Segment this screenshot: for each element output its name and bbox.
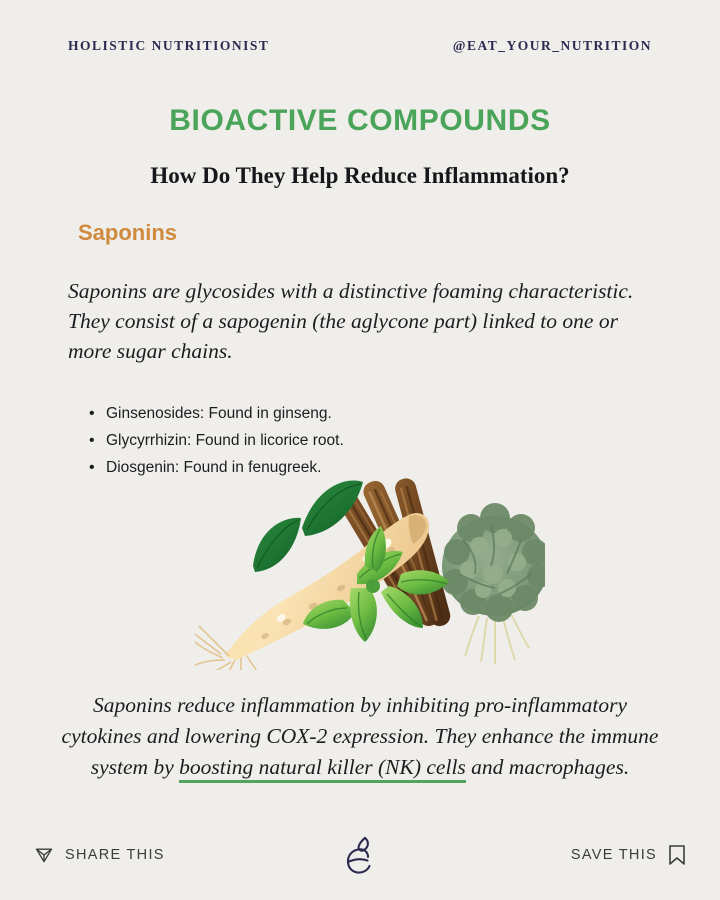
brand-logo-icon[interactable] [343,835,377,875]
share-this-button[interactable]: SHARE THIS [34,845,165,865]
send-icon [34,845,54,865]
conclusion-highlight: boosting natural killer (NK) cells [179,755,466,783]
bookmark-icon [668,844,686,866]
header-handle: @EAT_YOUR_NUTRITION [453,38,652,54]
footer-bar: SHARE THIS SAVE THIS [34,838,686,872]
share-this-label: SHARE THIS [65,847,165,863]
conclusion-paragraph: Saponins reduce inflammation by inhibiti… [60,690,660,783]
herb-bunch-graphic [442,503,545,664]
ginseng-leaves-graphic [253,481,363,572]
section-heading: Saponins [78,220,177,246]
page-title: BIOACTIVE COMPOUNDS [0,104,720,138]
conclusion-text-part2: and macrophages. [466,755,629,779]
herbs-illustration [195,470,545,670]
post-card: HOLISTIC NUTRITIONIST @EAT_YOUR_NUTRITIO… [0,0,720,900]
page-subtitle: How Do They Help Reduce Inflammation? [0,163,720,189]
list-item: Glycyrrhizin: Found in licorice root. [106,427,344,454]
save-this-button[interactable]: SAVE THIS [571,844,686,866]
list-item: Ginsenosides: Found in ginseng. [106,400,344,427]
section-intro-paragraph: Saponins are glycosides with a distincti… [68,276,656,366]
header-brand-label: HOLISTIC NUTRITIONIST [68,38,269,54]
save-this-label: SAVE THIS [571,847,657,863]
compound-examples-list: Ginsenosides: Found in ginseng. Glycyrrh… [80,400,344,481]
header-bar: HOLISTIC NUTRITIONIST @EAT_YOUR_NUTRITIO… [68,38,652,54]
